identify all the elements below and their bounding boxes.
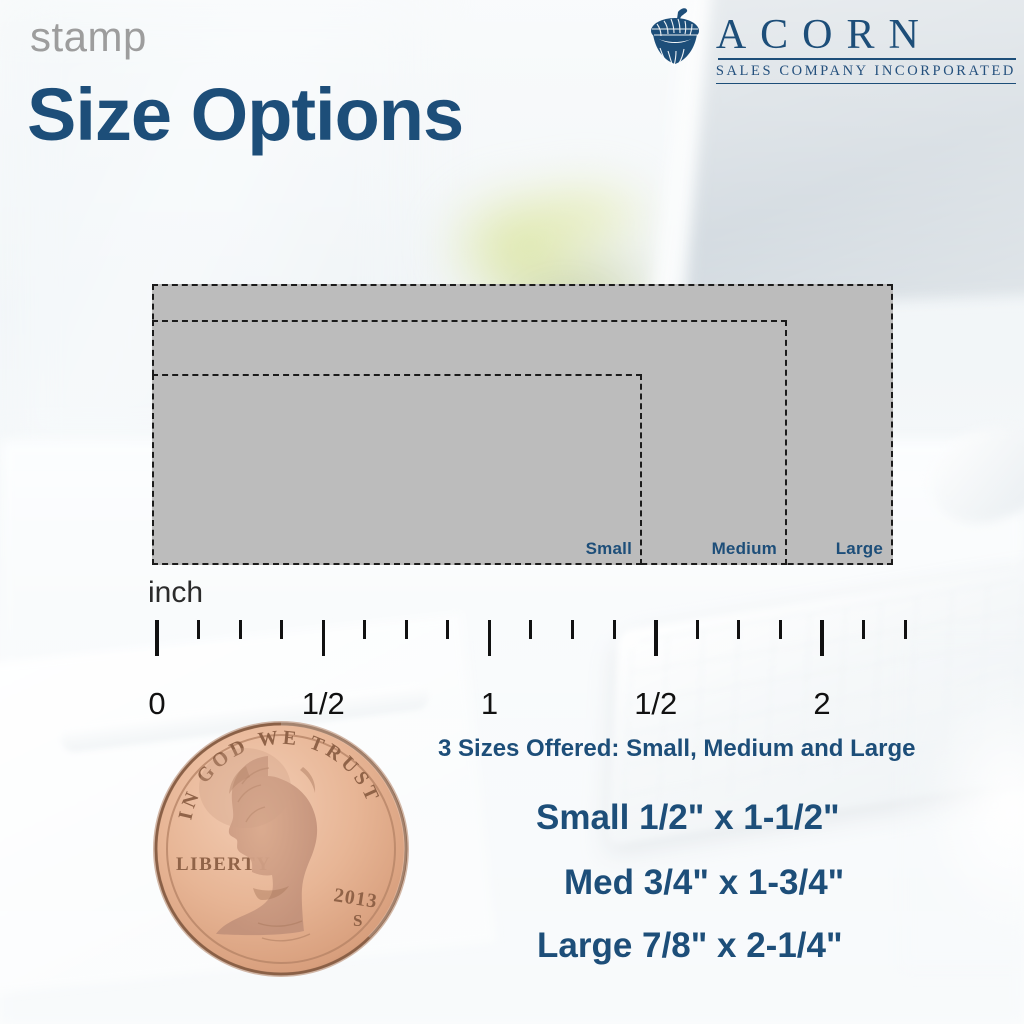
ruler-label-3: 1/2 xyxy=(634,688,677,719)
brand-rule-bottom xyxy=(716,83,1016,84)
page-title: Size Options xyxy=(27,78,463,152)
ruler-tick-minor xyxy=(529,620,532,639)
spec-line-medium: Med 3/4" x 1-3/4" xyxy=(564,865,844,900)
size-rect-label-small: Small xyxy=(586,539,632,559)
ruler-label-1: 1/2 xyxy=(302,688,345,719)
brand-logo: ACORN SALES COMPANY INCORPORATED xyxy=(644,6,1016,88)
brand-wordmark: ACORN SALES COMPANY INCORPORATED xyxy=(716,6,1016,84)
ruler-tick-minor xyxy=(239,620,242,639)
ruler-tick-minor xyxy=(280,620,283,639)
spec-line-small: Small 1/2" x 1-1/2" xyxy=(536,800,840,835)
ruler-tick-minor xyxy=(862,620,865,639)
acorn-icon xyxy=(644,6,706,88)
ruler-tick-minor xyxy=(197,620,200,639)
ruler-tick-minor xyxy=(613,620,616,639)
eyebrow-label: stamp xyxy=(30,16,147,58)
brand-rule-top xyxy=(718,58,1016,60)
brand-name: ACORN xyxy=(716,12,933,58)
spec-line-large: Large 7/8" x 2-1/4" xyxy=(537,928,843,963)
ruler-tick-major xyxy=(322,620,325,656)
penny-coin-image: IN GOD WE TRUST LIBERTY 2013 S xyxy=(150,718,412,980)
ruler-tick-minor xyxy=(363,620,366,639)
ruler-tick-minor xyxy=(779,620,782,639)
ruler-tick-minor xyxy=(571,620,574,639)
ruler-label-2: 1 xyxy=(481,688,498,719)
ruler-tick-minor xyxy=(405,620,408,639)
ruler-tick-major xyxy=(155,620,158,656)
size-rect-label-large: Large xyxy=(836,539,883,559)
ruler-tick-minor xyxy=(737,620,740,639)
ruler-tick-major xyxy=(654,620,657,656)
ruler-tick-major xyxy=(488,620,491,656)
ruler-unit-label: inch xyxy=(148,578,203,608)
size-rect-label-medium: Medium xyxy=(712,539,777,559)
ruler-tick-major xyxy=(820,620,823,656)
ruler-label-4: 2 xyxy=(813,688,830,719)
ruler-label-0: 0 xyxy=(148,688,165,719)
ruler-tick-minor xyxy=(904,620,907,639)
offer-summary: 3 Sizes Offered: Small, Medium and Large xyxy=(438,735,915,763)
brand-tagline: SALES COMPANY INCORPORATED xyxy=(716,63,1016,80)
ruler-tick-minor xyxy=(696,620,699,639)
ruler-tick-minor xyxy=(446,620,449,639)
size-rect-small: Small xyxy=(152,374,642,565)
svg-text:S: S xyxy=(353,911,362,930)
